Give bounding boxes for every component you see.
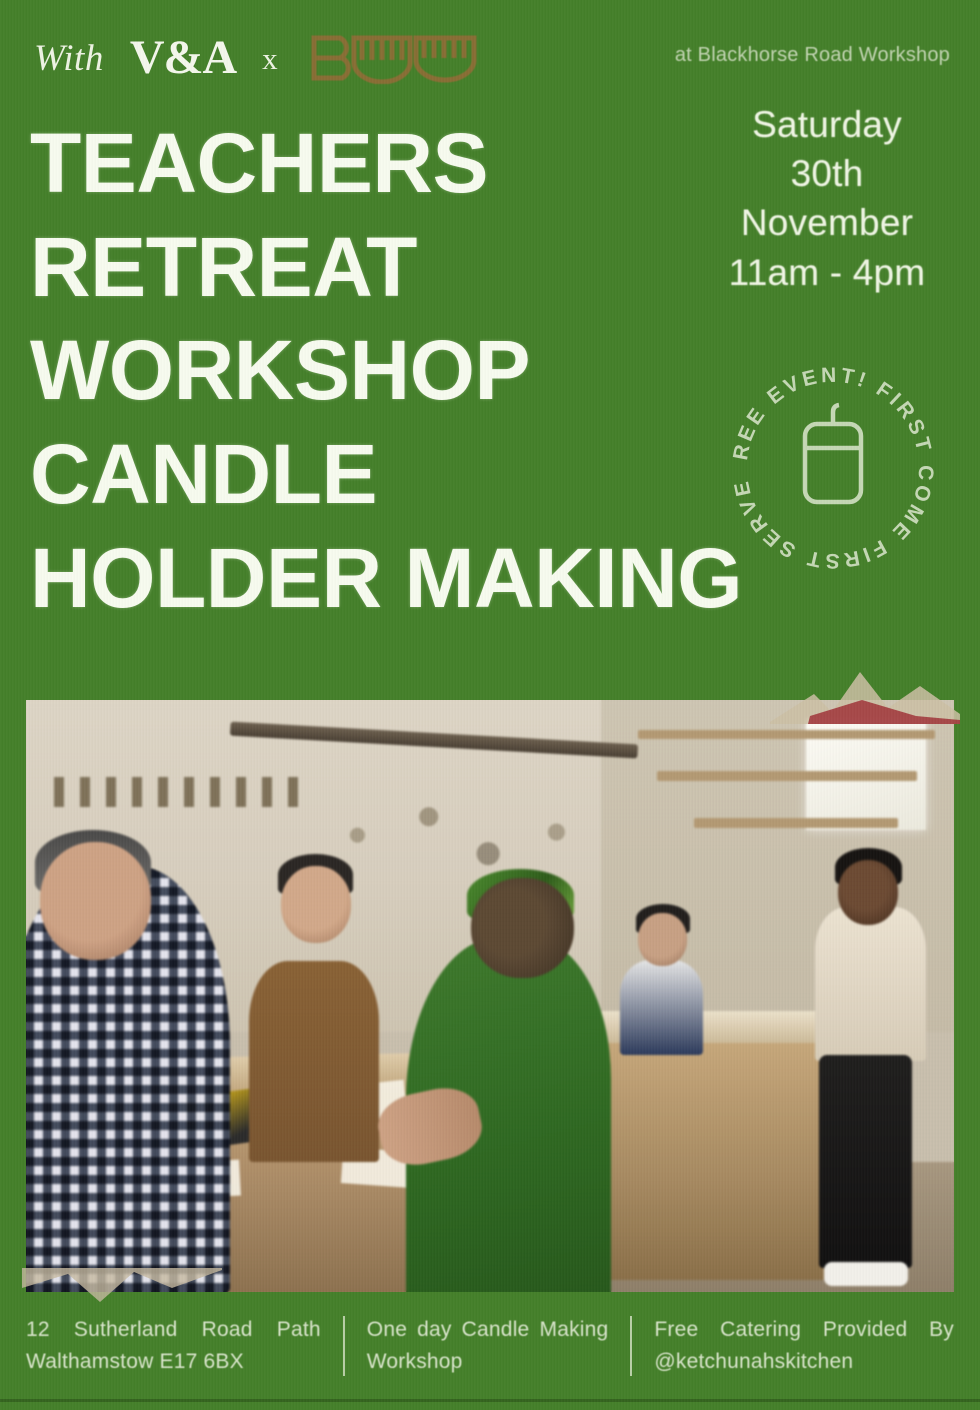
bww-logo bbox=[304, 32, 486, 84]
footer-bar: 12 Sutherland Road Path Walthamstow E17 … bbox=[0, 1298, 980, 1410]
workshop-photo bbox=[26, 700, 954, 1292]
brand-row: With V&A x bbox=[34, 32, 486, 84]
headline-line-4: CANDLE bbox=[30, 423, 820, 527]
svg-text:FREE EVENT! FIRST COME FIRST S: FREE EVENT! FIRST COME FIRST SERVED bbox=[717, 352, 937, 572]
stamp-ring-text: FREE EVENT! FIRST COME FIRST SERVED bbox=[717, 352, 937, 572]
date-day-name: Saturday bbox=[696, 100, 958, 149]
va-logo: V&A bbox=[130, 34, 236, 82]
poster-canvas: With V&A x at Blackhorse Road Workshop bbox=[0, 0, 980, 1410]
footer-catering-credit: Free Catering Provided By @ketchunahskit… bbox=[654, 1314, 954, 1378]
date-time-range: 11am - 4pm bbox=[696, 248, 958, 297]
footer-workshop-description: One day Candle Making Workshop bbox=[367, 1314, 609, 1378]
footer-divider-2 bbox=[630, 1316, 632, 1376]
workshop-photo-image bbox=[26, 700, 954, 1292]
top-bar: With V&A x at Blackhorse Road Workshop bbox=[0, 28, 980, 90]
footer-address: 12 Sutherland Road Path Walthamstow E17 … bbox=[26, 1314, 321, 1378]
date-month: November bbox=[696, 198, 958, 247]
date-day-number: 30th bbox=[696, 149, 958, 198]
date-block: Saturday 30th November 11am - 4pm bbox=[696, 100, 958, 297]
headline-line-5: HOLDER MAKING bbox=[30, 527, 820, 631]
collab-x-separator: x bbox=[262, 43, 278, 74]
candle-icon bbox=[805, 405, 861, 502]
headline-line-3: WORKSHOP bbox=[30, 319, 820, 423]
free-event-stamp-badge: FREE EVENT! FIRST COME FIRST SERVED bbox=[717, 352, 949, 584]
venue-label: at Blackhorse Road Workshop bbox=[675, 44, 950, 67]
with-label: With bbox=[34, 40, 104, 77]
footer-divider-1 bbox=[343, 1316, 345, 1376]
footer-bottom-rule bbox=[0, 1399, 980, 1402]
